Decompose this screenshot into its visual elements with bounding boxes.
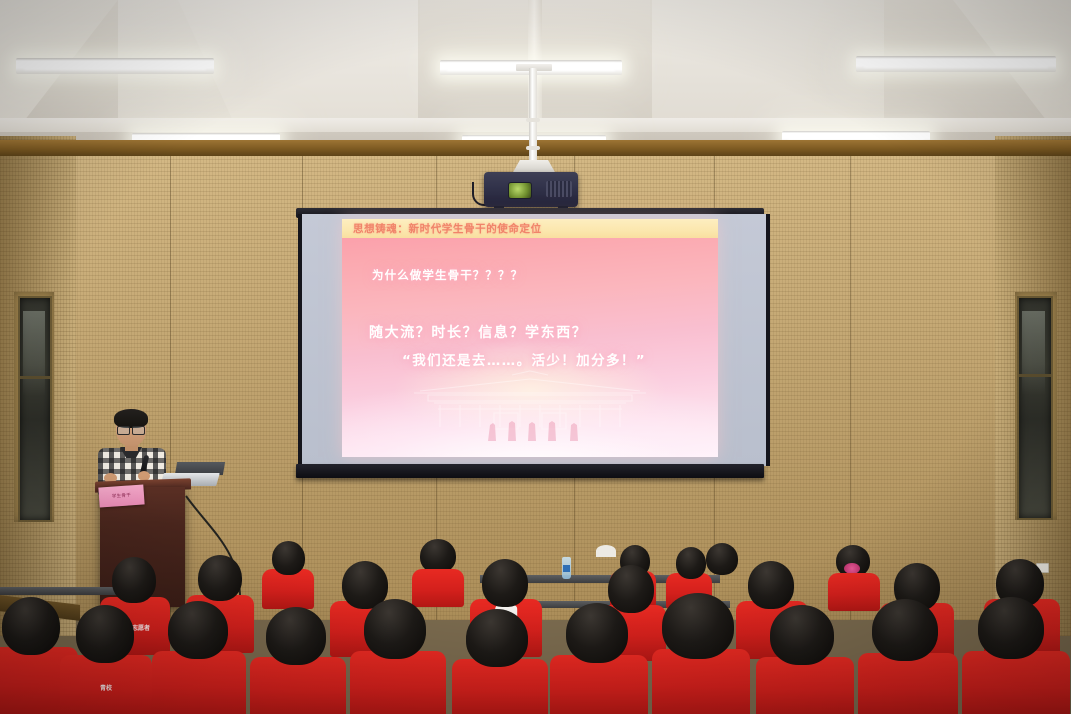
student-head xyxy=(566,603,628,663)
projected-slide: 思想铸魂：新时代学生骨干的使命定位 为什么做学生骨干？？？？ 随大流？时长？信息… xyxy=(342,219,718,457)
student-vest: 青校 xyxy=(60,655,152,714)
student-head xyxy=(676,547,706,579)
student-head xyxy=(770,605,834,665)
student-vest xyxy=(550,655,648,714)
student-vest xyxy=(152,651,246,714)
student-head xyxy=(978,597,1044,659)
tall-narrow-window xyxy=(18,296,52,522)
projector-lens-icon xyxy=(508,182,532,199)
student-head xyxy=(706,543,738,575)
student-head xyxy=(872,599,938,661)
student-vest xyxy=(962,651,1070,714)
podium-name-card-text: 学生骨干 xyxy=(112,492,132,499)
student-head xyxy=(198,555,242,601)
student-vest xyxy=(250,657,346,714)
slide-line-1: 为什么做学生骨干？？？？ xyxy=(372,267,523,283)
fluorescent-tube-light xyxy=(856,56,1056,72)
slide-title-bar: 思想铸魂：新时代学生骨干的使命定位 xyxy=(342,219,718,238)
student-vest xyxy=(452,659,548,714)
screen-weight-bar xyxy=(296,464,764,478)
student-head xyxy=(364,599,426,659)
student-head xyxy=(2,597,60,655)
audience: 青校 青年志愿者 青校 xyxy=(0,539,1071,714)
tall-narrow-window xyxy=(1017,296,1053,520)
projector-vent xyxy=(546,181,572,197)
student-head xyxy=(748,561,794,609)
projector-pole-ring xyxy=(526,146,540,150)
student-vest xyxy=(412,569,464,607)
student-head xyxy=(168,601,228,659)
student-vest xyxy=(828,573,880,611)
student-vest xyxy=(756,657,854,714)
student-vest xyxy=(350,651,446,714)
desk-row xyxy=(0,587,120,595)
pull-down-projection-screen: 思想铸魂：新时代学生骨干的使命定位 为什么做学生骨干？？？？ 随大流？时长？信息… xyxy=(296,208,764,480)
crowd-silhouette-graphic xyxy=(482,415,592,441)
slide-title-text: 思想铸魂：新时代学生骨干的使命定位 xyxy=(342,221,542,236)
vest-text: 青校 xyxy=(100,683,112,692)
slide-line-2: 随大流？时长？信息？学东西？ xyxy=(369,322,587,342)
eyeglasses-icon xyxy=(117,426,145,433)
auditorium-scene: 思想铸魂：新时代学生骨干的使命定位 为什么做学生骨干？？？？ 随大流？时长？信息… xyxy=(0,0,1071,714)
student-head xyxy=(662,593,734,659)
projector-pole-ring xyxy=(526,118,540,122)
student-head xyxy=(76,605,134,663)
fluorescent-tube-light xyxy=(16,58,214,74)
student-head xyxy=(608,565,654,613)
slide-line-3: “我们还是去……。活少！加分多！” xyxy=(402,349,646,369)
student-vest xyxy=(262,569,314,609)
ceiling-projector xyxy=(484,172,578,207)
student-head xyxy=(482,559,528,607)
projector-mount-pole xyxy=(529,68,537,166)
student-head xyxy=(266,607,326,665)
student-head xyxy=(420,539,456,573)
student-head xyxy=(272,541,305,575)
podium-name-card: 学生骨干 xyxy=(98,484,144,507)
student-head xyxy=(112,557,156,603)
water-bottle[interactable] xyxy=(562,557,571,579)
student-vest xyxy=(858,653,958,714)
student-head xyxy=(466,609,528,667)
white-cap xyxy=(596,545,616,557)
